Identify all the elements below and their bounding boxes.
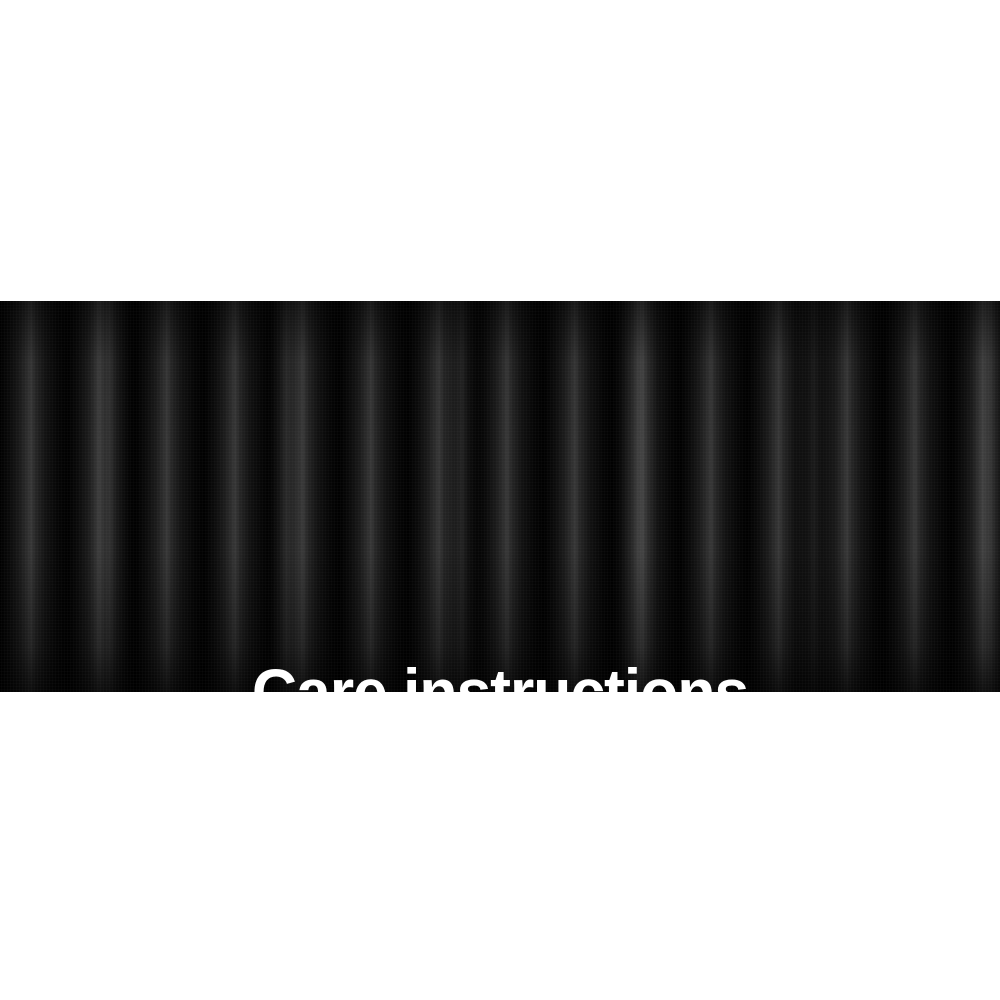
- dark-fabric-banner: Care instructions Machine washable cold: [0, 301, 1000, 692]
- care-instructions-banner-page: Care instructions Machine washable cold: [0, 0, 1000, 1000]
- banner-vignette: [0, 301, 1000, 692]
- page-title: Care instructions: [25, 659, 975, 692]
